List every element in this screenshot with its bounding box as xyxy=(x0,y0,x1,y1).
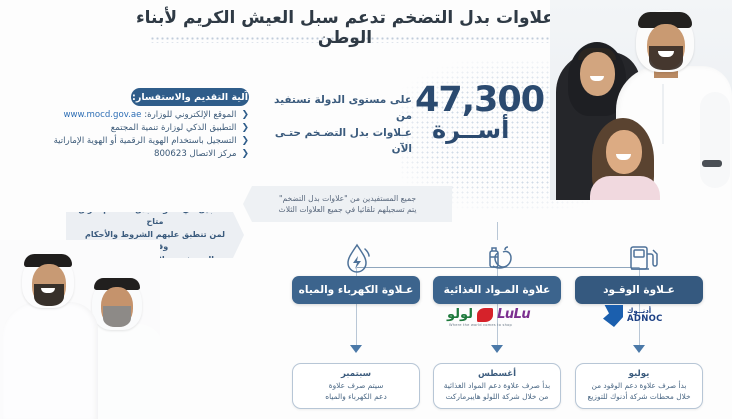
timeline-card-food: أغسطس بدأ صرف علاوة دعم المواد الغذائية … xyxy=(433,363,561,409)
adnoc-logo: أدنــوك ADNOC xyxy=(603,305,663,327)
category-pill-food[interactable]: علاوة المـواد الغذائية xyxy=(433,276,561,304)
lulu-logo-tagline: Where the world comes to shop xyxy=(449,323,512,327)
arrow-down-icon xyxy=(633,345,645,353)
beneficiary-description: على مستوى الدولة تستفيد من عـلاوات بدل ا… xyxy=(272,92,412,157)
category-label: علاوة المـواد الغذائية xyxy=(444,284,551,296)
chevron-left-icon: ❮ xyxy=(241,111,249,120)
timeline-month: يوليو xyxy=(629,369,650,379)
auto-registration-note: جميع المستفيدين من "علاوات بدل التضخم" ي… xyxy=(243,186,452,222)
apply-item-label: التطبيق الذكي لوزارة تنمية المجتمع xyxy=(36,123,236,133)
lulu-logo-en: LuLu xyxy=(497,307,530,322)
adnoc-falcon-icon xyxy=(603,305,623,327)
timeline-description: سيتم صرف علاوة دعم الكهرباء والمياه xyxy=(325,381,386,402)
fuel-pump-icon xyxy=(621,238,661,278)
timeline-card-electricity-water: سبتمبر سيتم صرف علاوة دعم الكهرباء والمي… xyxy=(292,363,420,409)
timeline-description: بدأ صرف علاوة دعم المواد الغذائية من خلا… xyxy=(444,381,550,402)
apply-item-label: مركز الاتصال 800623 xyxy=(36,149,236,159)
category-pill-electricity-water[interactable]: عـلاوة الكهرباء والمياه xyxy=(292,276,420,304)
adnoc-logo-en: ADNOC xyxy=(627,315,663,324)
arrow-down-icon xyxy=(350,345,362,353)
lulu-logo-mark xyxy=(477,308,493,322)
category-label: عـلاوة الوقـود xyxy=(603,284,675,296)
water-drop-electric-icon xyxy=(337,238,377,278)
list-item[interactable]: ❮ مركز الاتصال 800623 xyxy=(36,149,249,159)
timeline-description: بدأ صرف علاوة دعم الوقود من خلال محطات ش… xyxy=(587,381,690,402)
family-photo xyxy=(550,0,732,200)
lulu-logo: LuLu لولو xyxy=(447,307,530,322)
list-item[interactable]: ❮ الموقع الإلكتروني للوزارة: www.mocd.go… xyxy=(36,110,249,120)
timeline-month: سبتمبر xyxy=(341,369,371,379)
timeline-card-fuel: يوليو بدأ صرف علاوة دعم الوقود من خلال م… xyxy=(575,363,703,409)
beneficiary-count: 47,300 xyxy=(415,80,544,120)
timeline-month: أغسطس xyxy=(478,369,516,379)
infographic-canvas: علاوات بدل التضخم تدعم سبل العيش الكريم … xyxy=(0,0,732,419)
groceries-icon xyxy=(479,238,519,278)
category-label: عـلاوة الكهرباء والمياه xyxy=(299,284,414,296)
chevron-left-icon: ❮ xyxy=(241,124,249,133)
lulu-logo-ar: لولو xyxy=(447,307,473,322)
page-title: علاوات بدل التضخم تدعم سبل العيش الكريم … xyxy=(110,8,580,48)
beneficiary-unit: أســرة xyxy=(432,116,509,144)
list-item[interactable]: ❮ التسجيل باستخدام الهوية الرقمية أو اله… xyxy=(36,136,249,146)
auto-registration-note-text: جميع المستفيدين من "علاوات بدل التضخم" ي… xyxy=(271,193,425,216)
apply-item-label: الموقع الإلكتروني للوزارة: xyxy=(141,110,236,120)
apply-panel-list: ❮ الموقع الإلكتروني للوزارة: www.mocd.go… xyxy=(36,110,249,162)
arrow-down-icon xyxy=(491,345,503,353)
ministry-website-link[interactable]: www.mocd.gov.ae xyxy=(63,110,141,120)
chevron-left-icon: ❮ xyxy=(241,137,249,146)
list-item[interactable]: ❮ التطبيق الذكي لوزارة تنمية المجتمع xyxy=(36,123,249,133)
apply-item-label: التسجيل باستخدام الهوية الرقمية أو الهوي… xyxy=(36,136,236,146)
apply-panel-heading: آلية التقديم والاستفسار: xyxy=(131,88,249,106)
chevron-left-icon: ❮ xyxy=(241,150,249,159)
category-pill-fuel[interactable]: عـلاوة الوقـود xyxy=(575,276,703,304)
citizens-photo xyxy=(0,240,160,419)
